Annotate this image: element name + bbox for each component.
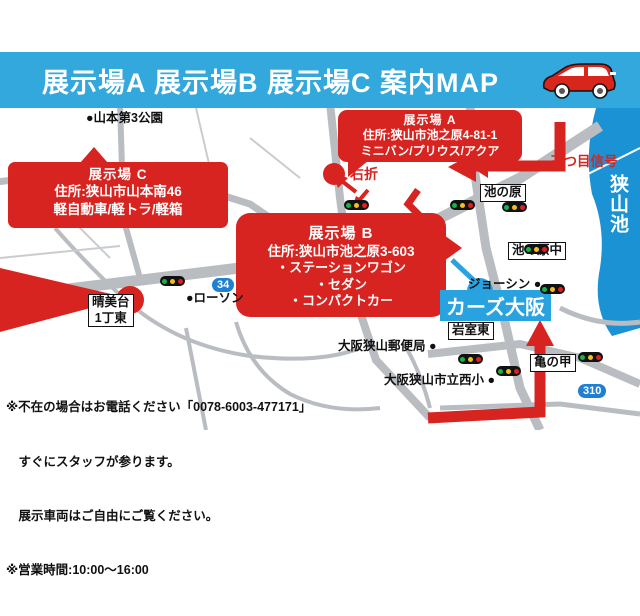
traffic-signal-icon — [540, 284, 565, 294]
route-shield-310: 310 — [578, 384, 606, 398]
intersection-ikenohara: 池の原 — [480, 184, 526, 202]
label-cars-osaka: カーズ大阪 — [440, 290, 551, 321]
callout-b-title: 展示場 B — [236, 224, 446, 243]
header-banner: 展示場A 展示場B 展示場C 案内MAP — [0, 52, 640, 108]
label-third-signal: 三つ目信号 — [550, 150, 618, 170]
label-post-office: 大阪狭山郵便局 ● — [338, 340, 437, 354]
label-nishi-elementary: 大阪狭山市立西小 ● — [384, 374, 495, 388]
label-lawson: ●ローソン — [186, 292, 244, 306]
callout-a-address: 住所:狭山市池之原4-81-1 — [338, 128, 522, 143]
traffic-signal-icon — [458, 354, 483, 364]
intersection-kamenoko: 亀の甲 — [530, 354, 576, 372]
note-line-1: ※不在の場合はお電話ください「0078-6003-477171」 — [6, 398, 311, 416]
map-flyer: 展示場A 展示場B 展示場C 案内MAP — [0, 0, 640, 480]
callout-c-address: 住所:狭山市山本南46 — [8, 183, 228, 200]
callout-showroom-a: 展示場 A 住所:狭山市池之原4-81-1 ミニバン/プリウス/アクア — [338, 110, 522, 162]
callout-c-item-0: 軽自動車/軽トラ/軽箱 — [8, 201, 228, 218]
note-line-4: ※営業時間:10:00～16:00 — [6, 561, 311, 579]
callout-a-title: 展示場 A — [338, 113, 522, 128]
footer-note: ※不在の場合はお電話ください「0078-6003-477171」 すぐにスタッフ… — [6, 362, 311, 616]
note-line-3: 展示車両はご自由にご覧ください。 — [6, 507, 311, 525]
intersection-harumidai-1chohigashi: 晴美台 1丁東 — [88, 294, 134, 327]
traffic-signal-icon — [502, 202, 527, 212]
callout-b-tail — [444, 235, 462, 261]
callout-b-item-2: ・コンパクトカー — [236, 293, 446, 309]
callout-b-item-1: ・セダン — [236, 277, 446, 293]
label-yamamoto-park: ●山本第3公園 — [86, 112, 163, 126]
route-shield-34: 34 — [212, 278, 234, 292]
traffic-signal-icon — [344, 200, 369, 210]
label-sayama-pond: 狭山池 — [608, 174, 627, 234]
traffic-signal-icon — [496, 366, 521, 376]
callout-a-tail-2 — [462, 161, 488, 178]
traffic-signal-icon — [450, 200, 475, 210]
traffic-signal-icon — [524, 244, 549, 254]
intersection-iwamurohigashi: 岩室東 — [448, 322, 494, 340]
traffic-signal-icon — [578, 352, 603, 362]
callout-a-item-0: ミニバン/プリウス/アクア — [338, 144, 522, 159]
intersection-harumidai-label: 晴美台 1丁東 — [92, 295, 130, 325]
callout-b-address: 住所:狭山市池之原3-603 — [236, 243, 446, 260]
page-title: 展示場A 展示場B 展示場C 案内MAP — [42, 61, 499, 100]
callout-showroom-b: 展示場 B 住所:狭山市池之原3-603 ・ステーションワゴン ・セダン ・コン… — [236, 213, 446, 317]
label-turn-right: 右折 — [350, 164, 378, 184]
callout-b-item-0: ・ステーションワゴン — [236, 260, 446, 276]
callout-c-title: 展示場 C — [8, 166, 228, 183]
traffic-signal-icon — [160, 276, 185, 286]
callout-c-tail — [80, 147, 108, 163]
note-line-2: すぐにスタッフが参ります。 — [6, 453, 311, 471]
callout-showroom-c: 展示場 C 住所:狭山市山本南46 軽自動車/軽トラ/軽箱 — [8, 162, 228, 228]
red-minivan-icon — [536, 58, 622, 102]
